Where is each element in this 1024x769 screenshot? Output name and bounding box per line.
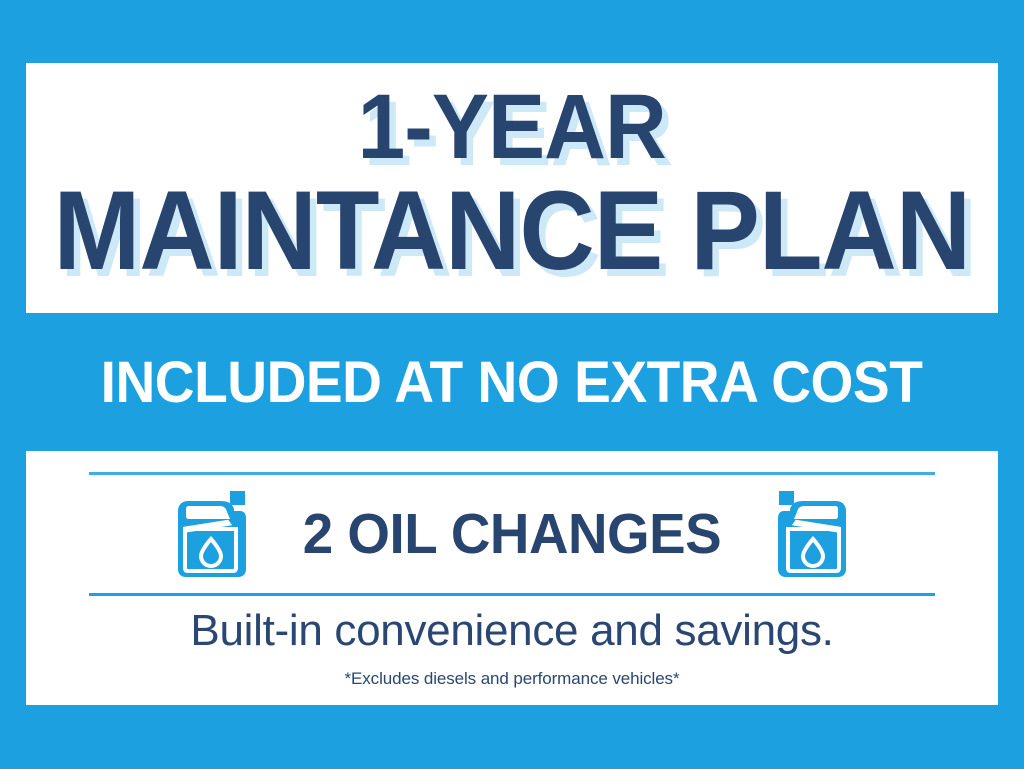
divider-top [89, 472, 935, 475]
oil-jug-icon-right [776, 489, 850, 579]
offer-title: 2 OIL CHANGES [303, 501, 721, 567]
promo-poster: 1-YEAR MAINTANCE PLAN INCLUDED AT NO EXT… [0, 0, 1024, 769]
tagline: Built-in convenience and savings. [26, 606, 998, 656]
headline-card: 1-YEAR MAINTANCE PLAN [26, 63, 998, 313]
headline-line-2: MAINTANCE PLAN [54, 177, 971, 285]
subheading-text: INCLUDED AT NO EXTRA COST [101, 349, 923, 416]
oil-jug-icon-left [174, 489, 248, 579]
subheading-band: INCLUDED AT NO EXTRA COST [0, 313, 1024, 451]
divider-bottom [89, 593, 935, 596]
offer-row: 2 OIL CHANGES [26, 481, 998, 586]
disclaimer: *Excludes diesels and performance vehicl… [26, 669, 998, 689]
headline-line-1: 1-YEAR [358, 83, 666, 171]
offer-card: 2 OIL CHANGES Built-in convenience and s… [26, 451, 998, 705]
